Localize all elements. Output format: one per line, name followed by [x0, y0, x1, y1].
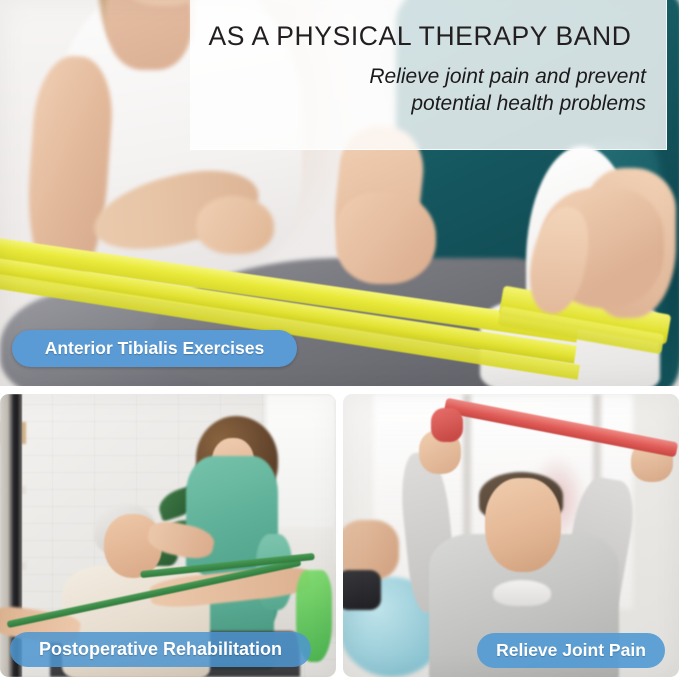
patient-neck — [106, 0, 192, 70]
hero-panel: AS A PHYSICAL THERAPY BAND Relieve joint… — [0, 0, 679, 386]
br-man-head — [485, 478, 561, 572]
subtitle: Relieve joint pain and prevent potential… — [190, 64, 650, 118]
badge-anterior-tibialis-exercises: Anterior Tibialis Exercises — [12, 330, 297, 367]
headline-overlay-panel: AS A PHYSICAL THERAPY BAND Relieve joint… — [190, 0, 667, 150]
product-infographic: AS A PHYSICAL THERAPY BAND Relieve joint… — [0, 0, 679, 677]
badge-postoperative-rehabilitation: Postoperative Rehabilitation — [10, 632, 311, 667]
patient-hand — [196, 196, 274, 254]
panel-postoperative-rehabilitation: Postoperative Rehabilitation — [0, 394, 336, 677]
br-man-collar — [493, 580, 551, 606]
subtitle-line-1: Relieve joint pain and prevent — [190, 64, 646, 91]
panel-relieve-joint-pain: Relieve Joint Pain — [343, 394, 679, 677]
red-band-grip — [431, 408, 463, 442]
badge-relieve-joint-pain: Relieve Joint Pain — [477, 633, 665, 668]
subtitle-line-2: potential health problems — [190, 91, 646, 118]
page-title: AS A PHYSICAL THERAPY BAND — [190, 22, 650, 51]
therapist-left-hand — [336, 192, 436, 284]
br-wrist-cuff — [343, 570, 381, 610]
